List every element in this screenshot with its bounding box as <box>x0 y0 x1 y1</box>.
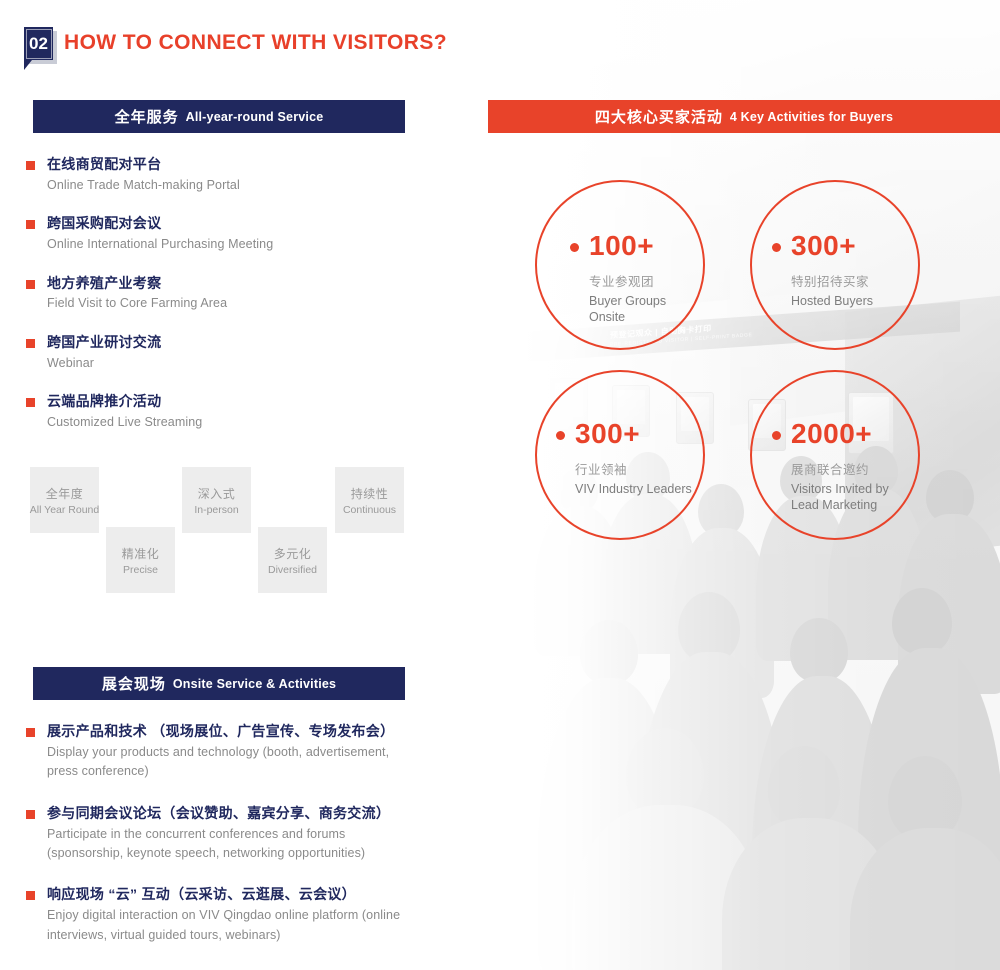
keyword-box-en-label: Diversified <box>268 564 317 576</box>
list-item-cn-label: 展示产品和技术 （现场展位、广告宣传、专场发布会） <box>47 722 416 741</box>
stat-dot-icon <box>772 431 781 440</box>
list-item: 地方养殖产业考察 Field Visit to Core Farming Are… <box>26 274 416 314</box>
stat-number: 100+ <box>589 232 654 260</box>
allyear-bar-cn-label: 全年服务 <box>115 106 179 127</box>
keyword-box: 全年度 All Year Round <box>30 467 99 533</box>
keyword-box-en-label: Precise <box>123 564 158 576</box>
keyword-box-cn-label: 精准化 <box>122 545 160 562</box>
stat-cn-label: 行业领袖 <box>575 459 706 478</box>
key-activities-header-bar: 四大核心买家活动 4 Key Activities for Buyers <box>488 100 1000 133</box>
list-item-en-label: Online International Purchasing Meeting <box>47 235 416 254</box>
list-item: 展示产品和技术 （现场展位、广告宣传、专场发布会） Display your p… <box>26 722 416 782</box>
keyword-box-cn-label: 多元化 <box>274 545 312 562</box>
allyear-service-header-bar: 全年服务 All-year-round Service <box>33 100 405 133</box>
stat-cn-label: 特别招待买家 <box>791 271 902 290</box>
brochure-page: 预登记观众 | 自助胸卡打印 PRE-REGISTERED VISITOR | … <box>0 0 1000 970</box>
stat-number: 300+ <box>791 232 856 260</box>
list-item-en-label: Webinar <box>47 354 416 373</box>
list-item-en-label: Customized Live Streaming <box>47 413 416 432</box>
list-item: 跨国采购配对会议 Online International Purchasing… <box>26 214 416 254</box>
bullet-square-icon <box>26 398 35 407</box>
stat-circle-content: 100+ 专业参观团 Buyer Groups Onsite <box>570 232 695 326</box>
list-item-cn-label: 跨国产业研讨交流 <box>47 333 416 352</box>
keyword-box-cn-label: 全年度 <box>46 485 84 502</box>
list-item-cn-label: 在线商贸配对平台 <box>47 155 416 174</box>
bullet-square-icon <box>26 728 35 737</box>
activities-bar-en-label: 4 Key Activities for Buyers <box>730 110 893 124</box>
onsite-bar-en-label: Onsite Service & Activities <box>173 677 336 691</box>
bullet-square-icon <box>26 220 35 229</box>
bullet-square-icon <box>26 891 35 900</box>
keyword-box-en-label: In-person <box>194 504 238 516</box>
stat-circle-content: 2000+ 展商联合邀约 Visitors Invited by Lead Ma… <box>772 420 922 514</box>
list-item-cn-label: 响应现场 “云” 互动（云采访、云逛展、云会议） <box>47 885 416 904</box>
stat-dot-icon <box>772 243 781 252</box>
onsite-service-header-bar: 展会现场 Onsite Service & Activities <box>33 667 405 700</box>
allyear-service-list: 在线商贸配对平台 Online Trade Match-making Porta… <box>26 155 416 451</box>
list-item: 跨国产业研讨交流 Webinar <box>26 333 416 373</box>
keyword-box-en-label: Continuous <box>343 504 396 516</box>
bullet-square-icon <box>26 810 35 819</box>
stat-number-row: 300+ <box>556 420 706 448</box>
stat-number: 300+ <box>575 420 640 448</box>
stat-circle-content: 300+ 行业领袖 VIV Industry Leaders <box>556 420 706 497</box>
list-item-en-label: Online Trade Match-making Portal <box>47 176 416 195</box>
activities-bar-cn-label: 四大核心买家活动 <box>595 106 723 127</box>
allyear-bar-en-label: All-year-round Service <box>186 110 324 124</box>
stat-number-row: 100+ <box>570 232 695 260</box>
stat-en-label: Hosted Buyers <box>791 293 902 309</box>
stat-dot-icon <box>556 431 565 440</box>
keyword-box-cn-label: 持续性 <box>351 485 389 502</box>
keyword-box-cn-label: 深入式 <box>198 485 236 502</box>
section-badge-tail-icon <box>24 60 32 70</box>
list-item-en-label: Participate in the concurrent conference… <box>47 825 416 864</box>
list-item-en-label: Enjoy digital interaction on VIV Qingdao… <box>47 906 416 945</box>
bullet-square-icon <box>26 339 35 348</box>
list-item-cn-label: 云端品牌推介活动 <box>47 392 416 411</box>
list-item-en-label: Field Visit to Core Farming Area <box>47 294 416 313</box>
stat-dot-icon <box>570 243 579 252</box>
page-title: HOW TO CONNECT WITH VISITORS? <box>64 31 447 55</box>
list-item-en-label: Display your products and technology (bo… <box>47 743 416 782</box>
section-number-badge: 02 <box>24 27 53 60</box>
stat-en-label: VIV Industry Leaders <box>575 481 706 497</box>
keyword-box: 精准化 Precise <box>106 527 175 593</box>
stat-cn-label: 展商联合邀约 <box>791 459 922 478</box>
stat-number-row: 2000+ <box>772 420 922 448</box>
list-item: 在线商贸配对平台 Online Trade Match-making Porta… <box>26 155 416 195</box>
stat-en-label: Buyer Groups Onsite <box>589 293 695 326</box>
list-item-cn-label: 地方养殖产业考察 <box>47 274 416 293</box>
keyword-box-en-label: All Year Round <box>30 504 99 516</box>
list-item: 参与同期会议论坛（会议赞助、嘉宾分享、商务交流） Participate in … <box>26 804 416 864</box>
onsite-service-list: 展示产品和技术 （现场展位、广告宣传、专场发布会） Display your p… <box>26 722 416 967</box>
stat-number: 2000+ <box>791 420 872 448</box>
list-item: 云端品牌推介活动 Customized Live Streaming <box>26 392 416 432</box>
keyword-box: 深入式 In-person <box>182 467 251 533</box>
list-item-cn-label: 跨国采购配对会议 <box>47 214 416 233</box>
stat-circle-content: 300+ 特别招待买家 Hosted Buyers <box>772 232 902 309</box>
stat-cn-label: 专业参观团 <box>589 271 695 290</box>
list-item: 响应现场 “云” 互动（云采访、云逛展、云会议） Enjoy digital i… <box>26 885 416 945</box>
stat-en-label: Visitors Invited by Lead Marketing <box>791 481 922 514</box>
section-number-text: 02 <box>29 34 48 54</box>
list-item-cn-label: 参与同期会议论坛（会议赞助、嘉宾分享、商务交流） <box>47 804 416 823</box>
stat-number-row: 300+ <box>772 232 902 260</box>
bullet-square-icon <box>26 280 35 289</box>
bullet-square-icon <box>26 161 35 170</box>
keyword-box: 持续性 Continuous <box>335 467 404 533</box>
onsite-bar-cn-label: 展会现场 <box>102 673 166 694</box>
keyword-box: 多元化 Diversified <box>258 527 327 593</box>
